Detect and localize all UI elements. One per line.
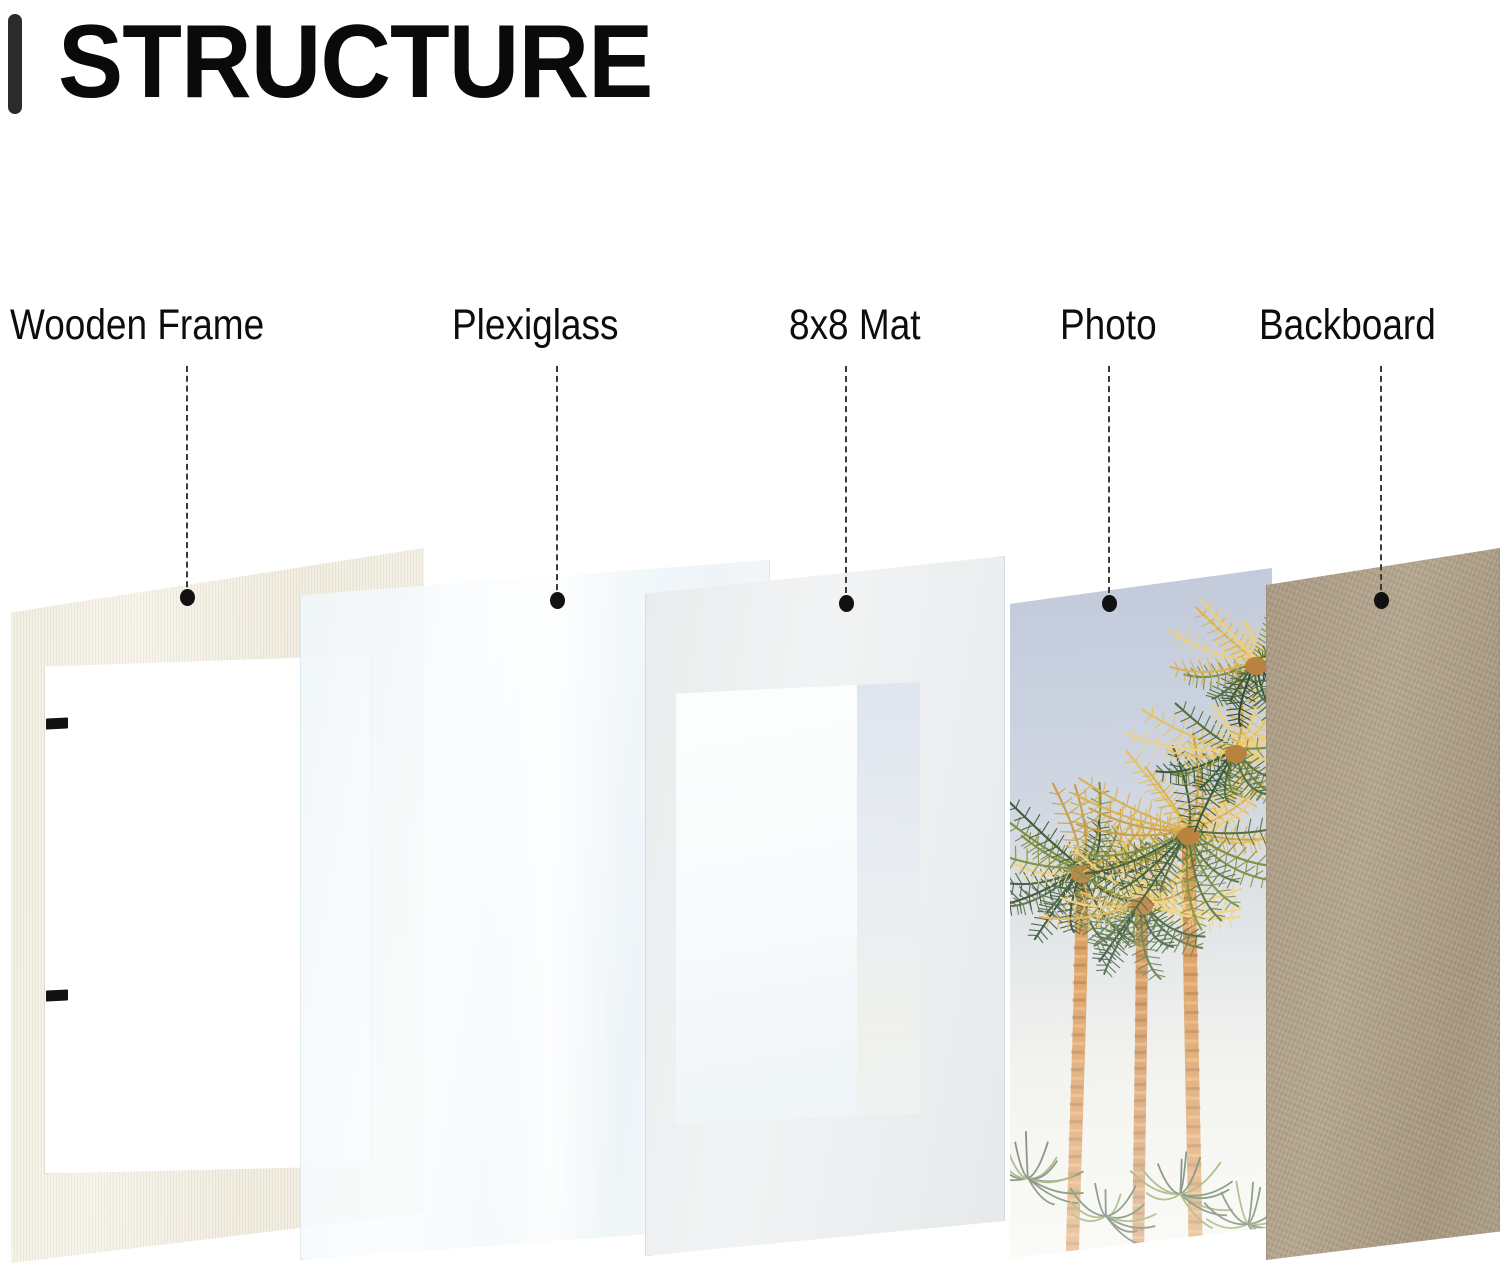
marker-dot-wooden-frame (180, 589, 195, 606)
leader-line-mat (845, 366, 847, 603)
plexiglass-sheen (479, 560, 620, 1260)
leader-line-wooden-frame (186, 366, 188, 597)
frame-clip-bottom-icon (46, 989, 68, 1001)
leader-line-plexiglass (556, 366, 558, 600)
marker-dot-mat (839, 595, 854, 612)
layer-backboard (1266, 548, 1500, 1260)
exploded-view-diagram: Wooden FramePlexiglass8x8 MatPhotoBackbo… (0, 0, 1500, 1266)
layer-photo (1010, 568, 1272, 1258)
layer-mat (645, 556, 1005, 1256)
label-mat: 8x8 Mat (789, 302, 921, 348)
photo-palm-trees (1010, 568, 1272, 1258)
label-wooden-frame: Wooden Frame (10, 302, 264, 348)
mat-window-cutout (676, 682, 921, 1123)
marker-dot-backboard (1374, 592, 1389, 609)
marker-dot-photo (1102, 595, 1117, 612)
label-plexiglass: Plexiglass (452, 302, 618, 348)
frame-clip-top-icon (46, 717, 68, 729)
mat-window-photo-glimpse (857, 682, 921, 1123)
label-photo: Photo (1060, 302, 1157, 348)
label-backboard: Backboard (1259, 302, 1436, 348)
leader-line-photo (1108, 366, 1110, 603)
marker-dot-plexiglass (550, 592, 565, 609)
leader-line-backboard (1380, 366, 1382, 600)
